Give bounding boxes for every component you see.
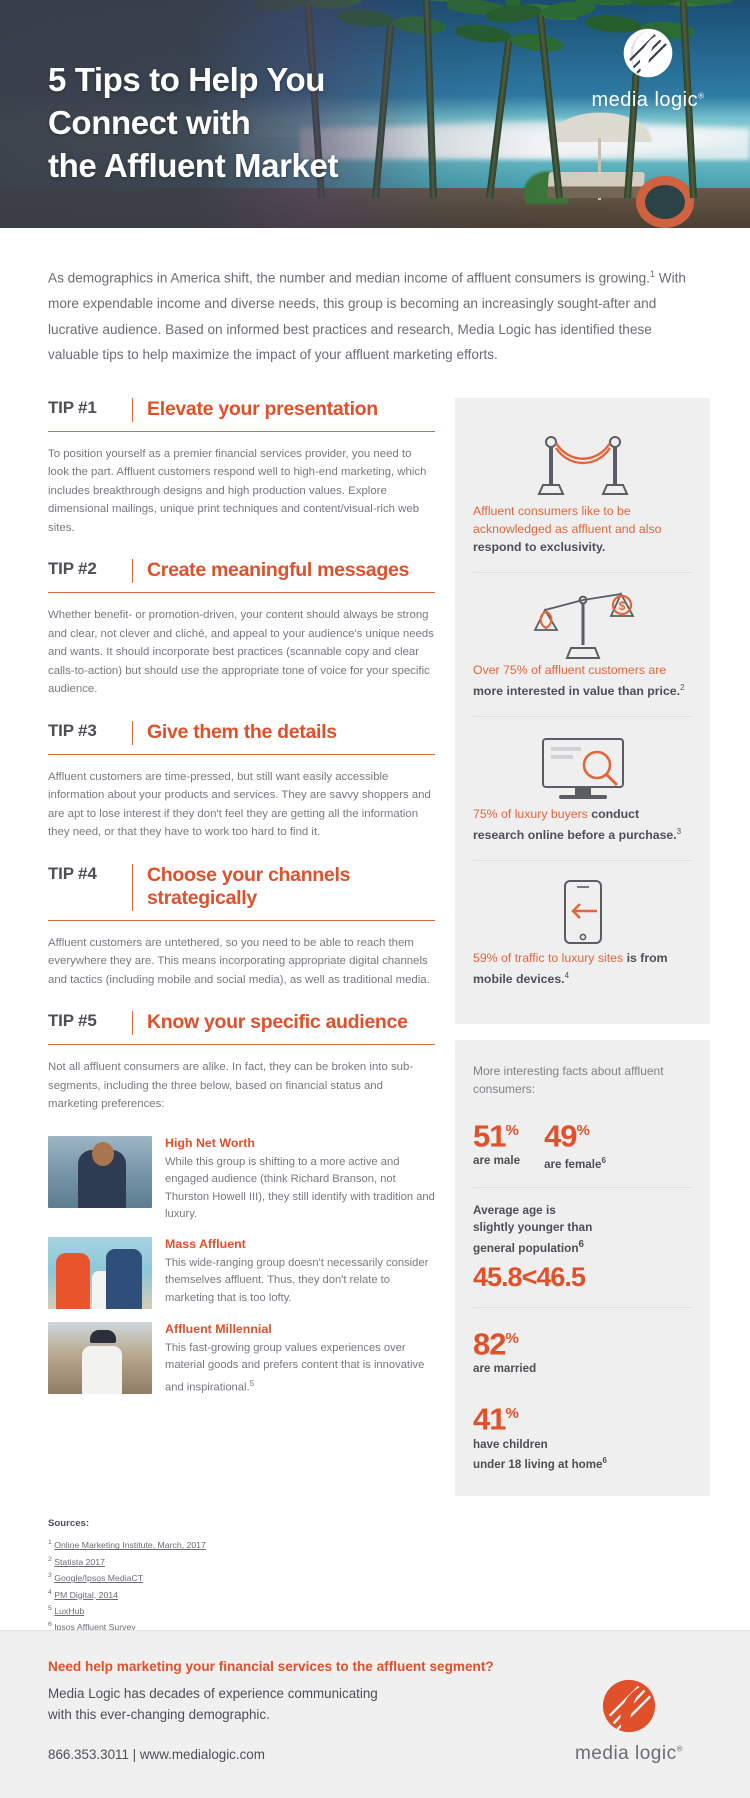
page-title-line-1: 5 Tips to Help You	[48, 58, 338, 101]
age-general-value: 46.5	[536, 1262, 585, 1292]
sources-heading: Sources:	[48, 1518, 702, 1529]
footer-brand-logo-name: media logic	[575, 1743, 677, 1764]
stat-footnote-ref: 2	[680, 683, 684, 692]
stat-number: 51	[473, 1118, 505, 1153]
stat-highlight: Affluent consumers like to be acknowledg…	[473, 504, 661, 536]
footer-brand-logo-text: media logic®	[554, 1743, 704, 1765]
segment-photo-millennial	[48, 1322, 152, 1394]
segment-copy: High Net Worth While this group is shift…	[165, 1136, 435, 1224]
stat-card-mobile-traffic: 59% of traffic to luxury sites is from m…	[473, 860, 692, 1004]
brand-logo-text: media logic®	[584, 89, 712, 112]
source-number: 3	[48, 1572, 52, 1579]
stat-footnote-ref: 6	[601, 1156, 605, 1165]
fact-gender: 51% are male 49% are female6	[473, 1114, 692, 1187]
stat-icon-wrap	[473, 875, 692, 949]
source-item: 1 Online Marketing Institute, March, 201…	[48, 1536, 702, 1552]
footer: Need help marketing your financial servi…	[0, 1630, 750, 1798]
tip-title: Create meaningful messages	[132, 559, 435, 583]
stat-label-text: are female	[544, 1158, 601, 1171]
stats-sidebar: Affluent consumers like to be acknowledg…	[455, 398, 750, 1497]
percent-symbol: %	[577, 1122, 589, 1139]
stat-card-research-online: 75% of luxury buyers conduct research on…	[473, 716, 692, 860]
svg-text:$: $	[618, 599, 625, 613]
stat-label-line-2-text: under 18 living at home	[473, 1457, 603, 1470]
segment-body: While this group is shifting to a more a…	[165, 1154, 435, 1224]
segment-title: High Net Worth	[165, 1136, 435, 1150]
stat-number: 41	[473, 1402, 505, 1437]
tip-block-5: TIP #5 Know your specific audience Not a…	[48, 1011, 435, 1114]
stat-footnote-ref: 4	[565, 971, 569, 980]
source-text[interactable]: Google/Ipsos MediaCT	[54, 1573, 143, 1583]
page-title-line-3: the Affluent Market	[48, 144, 338, 187]
stat-icon-wrap	[473, 731, 692, 805]
fact-average-age: Average age is slightly younger than gen…	[473, 1187, 692, 1307]
balance-scale-heart-money-icon: $	[525, 588, 641, 660]
gender-male: 51% are male	[473, 1114, 520, 1173]
tip-header: TIP #4 Choose your channels strategicall…	[48, 864, 435, 921]
intro-paragraph: As demographics in America shift, the nu…	[0, 228, 750, 368]
intro-text-part1: As demographics in America shift, the nu…	[48, 271, 650, 286]
media-logic-leaf-mark-icon	[621, 26, 675, 80]
tips-column: TIP #1 Elevate your presentation To posi…	[0, 398, 455, 1410]
brand-logo-name: media logic	[591, 89, 698, 111]
source-number: 1	[48, 1539, 52, 1546]
tip-body: Affluent customers are time-pressed, but…	[48, 755, 435, 842]
tip-block-2: TIP #2 Create meaningful messages Whethe…	[48, 559, 435, 699]
source-number: 5	[48, 1605, 52, 1612]
stat-bold: more interested in value than price.	[473, 684, 680, 698]
stat-label: are married	[473, 1361, 692, 1377]
stat-footnote-ref: 6	[603, 1456, 607, 1465]
stat-label-line-2: under 18 living at home6	[473, 1453, 692, 1473]
page-title: 5 Tips to Help You Connect with the Affl…	[48, 58, 338, 187]
segment-body: This wide-ranging group doesn't necessar…	[165, 1255, 435, 1308]
tip-number: TIP #4	[48, 864, 132, 884]
age-label-line-2: slightly younger than	[473, 1219, 692, 1236]
stat-number: 49	[544, 1118, 576, 1153]
stat-text: 59% of traffic to luxury sites is from m…	[473, 949, 692, 988]
stat-number: 82	[473, 1326, 505, 1361]
segment-title: Affluent Millennial	[165, 1322, 435, 1336]
source-number: 4	[48, 1589, 52, 1596]
stat-value: 49%	[544, 1114, 606, 1153]
tip-body: Not all affluent consumers are alike. In…	[48, 1045, 435, 1114]
panel-gap	[455, 1024, 710, 1040]
tip-body: Whether benefit- or promotion-driven, yo…	[48, 593, 435, 699]
segment-title: Mass Affluent	[165, 1237, 435, 1251]
source-text[interactable]: LuxHub	[54, 1606, 84, 1616]
tip-title: Elevate your presentation	[132, 398, 435, 422]
age-label: Average age is slightly younger than gen…	[473, 1202, 692, 1257]
footer-heading: Need help marketing your financial servi…	[48, 1659, 702, 1674]
segment-photo-family	[48, 1237, 152, 1309]
tip-title: Know your specific audience	[132, 1011, 435, 1035]
stat-text: Affluent consumers like to be acknowledg…	[473, 502, 692, 556]
stat-card-exclusivity: Affluent consumers like to be acknowledg…	[473, 414, 692, 572]
tip-number: TIP #5	[48, 1011, 132, 1031]
footer-brand-logo-registered: ®	[677, 1745, 683, 1754]
source-item: 4 PM Digital, 2014	[48, 1586, 702, 1602]
source-number: 6	[48, 1621, 52, 1628]
percent-symbol: %	[505, 1330, 517, 1347]
stat-highlight: 75% of luxury buyers	[473, 807, 591, 821]
tip-header: TIP #5 Know your specific audience	[48, 1011, 435, 1045]
age-comparison: 45.8<46.5	[473, 1262, 692, 1293]
stat-text: Over 75% of affluent customers are more …	[473, 661, 692, 700]
sources-section: Sources: 1 Online Marketing Institute, M…	[0, 1496, 750, 1634]
stat-label-text: are male	[473, 1154, 520, 1167]
stat-card-value-vs-price: $ Over 75% of affluent customers are mor…	[473, 572, 692, 716]
stat-highlight: 59% of traffic to luxury sites	[473, 951, 627, 965]
tip-number: TIP #1	[48, 398, 132, 418]
age-comparator: <	[522, 1262, 537, 1292]
percent-symbol: %	[505, 1122, 517, 1139]
source-item: 5 LuxHub	[48, 1602, 702, 1618]
tip-block-1: TIP #1 Elevate your presentation To posi…	[48, 398, 435, 538]
stat-text: 75% of luxury buyers conduct research on…	[473, 805, 692, 844]
phone-number[interactable]: 866.353.3011	[48, 1747, 129, 1762]
segment-high-net-worth: High Net Worth While this group is shift…	[48, 1136, 435, 1224]
stat-footnote-ref: 3	[677, 827, 681, 836]
velvet-rope-stanchion-icon	[525, 430, 641, 500]
segment-footnote-ref: 5	[250, 1379, 254, 1388]
gender-split: 51% are male 49% are female6	[473, 1114, 692, 1173]
page-title-line-2: Connect with	[48, 101, 338, 144]
footer-brand-logo: media logic®	[554, 1677, 704, 1765]
stat-icon-wrap	[473, 428, 692, 502]
tip-block-3: TIP #3 Give them the details Affluent cu…	[48, 721, 435, 842]
stat-value: 82%	[473, 1322, 692, 1361]
stat-footnote-ref: 6	[579, 1239, 584, 1250]
stat-label: are male	[473, 1153, 520, 1169]
stat-value: 51%	[473, 1114, 520, 1153]
contact-separator: |	[133, 1747, 136, 1762]
source-item: 3 Google/Ipsos MediaCT	[48, 1569, 702, 1585]
gender-female: 49% are female6	[544, 1114, 606, 1173]
fact-married: 82% are married	[473, 1307, 692, 1391]
segment-body-text: This wide-ranging group doesn't necessar…	[165, 1257, 428, 1304]
tip-header: TIP #1 Elevate your presentation	[48, 398, 435, 432]
source-item: 2 Statista 2017	[48, 1553, 702, 1569]
segment-copy: Affluent Millennial This fast-growing gr…	[165, 1322, 435, 1397]
mobile-phone-arrow-icon	[525, 877, 641, 947]
tip-number: TIP #3	[48, 721, 132, 741]
facts-panel: More interesting facts about affluent co…	[455, 1040, 710, 1497]
tip-header: TIP #2 Create meaningful messages	[48, 559, 435, 593]
source-number: 2	[48, 1556, 52, 1563]
child-figure	[92, 1271, 116, 1309]
source-text[interactable]: PM Digital, 2014	[54, 1590, 118, 1600]
audience-segments: High Net Worth While this group is shift…	[48, 1136, 435, 1397]
brand-logo-registered: ®	[698, 91, 704, 100]
age-label-line-1: Average age is	[473, 1202, 692, 1219]
percent-symbol: %	[505, 1405, 517, 1422]
stat-label: have children under 18 living at home6	[473, 1437, 692, 1473]
stat-label-line-1: have children	[473, 1437, 692, 1453]
segment-affluent-millennial: Affluent Millennial This fast-growing gr…	[48, 1322, 435, 1397]
stat-icon-wrap: $	[473, 587, 692, 661]
hero-banner: 5 Tips to Help You Connect with the Affl…	[0, 0, 750, 228]
tip-title: Choose your channels strategically	[132, 864, 435, 911]
age-label-line-3: general population6	[473, 1236, 692, 1257]
source-text[interactable]: Statista 2017	[54, 1557, 105, 1567]
segment-copy: Mass Affluent This wide-ranging group do…	[165, 1237, 435, 1309]
tip-number: TIP #2	[48, 559, 132, 579]
stat-cards-panel: Affluent consumers like to be acknowledg…	[455, 398, 710, 1024]
stat-label: are female6	[544, 1153, 606, 1173]
brand-logo: media logic®	[584, 26, 712, 112]
segment-photo-businessman	[48, 1136, 152, 1208]
tip-body: Affluent customers are untethered, so yo…	[48, 921, 435, 990]
main-content: TIP #1 Elevate your presentation To posi…	[0, 368, 750, 1497]
segment-body-text: While this group is shifting to a more a…	[165, 1156, 435, 1221]
segment-body: This fast-growing group values experienc…	[165, 1340, 435, 1397]
website-link[interactable]: www.medialogic.com	[140, 1747, 265, 1762]
facts-intro: More interesting facts about affluent co…	[473, 1062, 692, 1098]
age-label-line-3-text: general population	[473, 1241, 579, 1255]
tip-title: Give them the details	[132, 721, 435, 745]
age-affluent-value: 45.8	[473, 1262, 522, 1292]
tip-body: To position yourself as a premier financ…	[48, 432, 435, 538]
stat-highlight: Over 75% of affluent customers are	[473, 663, 666, 677]
media-logic-leaf-mark-icon	[600, 1677, 658, 1735]
tip-block-4: TIP #4 Choose your channels strategicall…	[48, 864, 435, 990]
desktop-monitor-magnifier-icon	[525, 733, 641, 803]
tip-header: TIP #3 Give them the details	[48, 721, 435, 755]
fact-children: 41% have children under 18 living at hom…	[473, 1391, 692, 1476]
stat-value: 41%	[473, 1397, 692, 1436]
segment-mass-affluent: Mass Affluent This wide-ranging group do…	[48, 1237, 435, 1309]
segment-body-text: This fast-growing group values experienc…	[165, 1342, 424, 1394]
source-text[interactable]: Online Marketing Institute, March, 2017	[54, 1540, 206, 1550]
stat-bold: respond to exclusivity.	[473, 540, 605, 554]
